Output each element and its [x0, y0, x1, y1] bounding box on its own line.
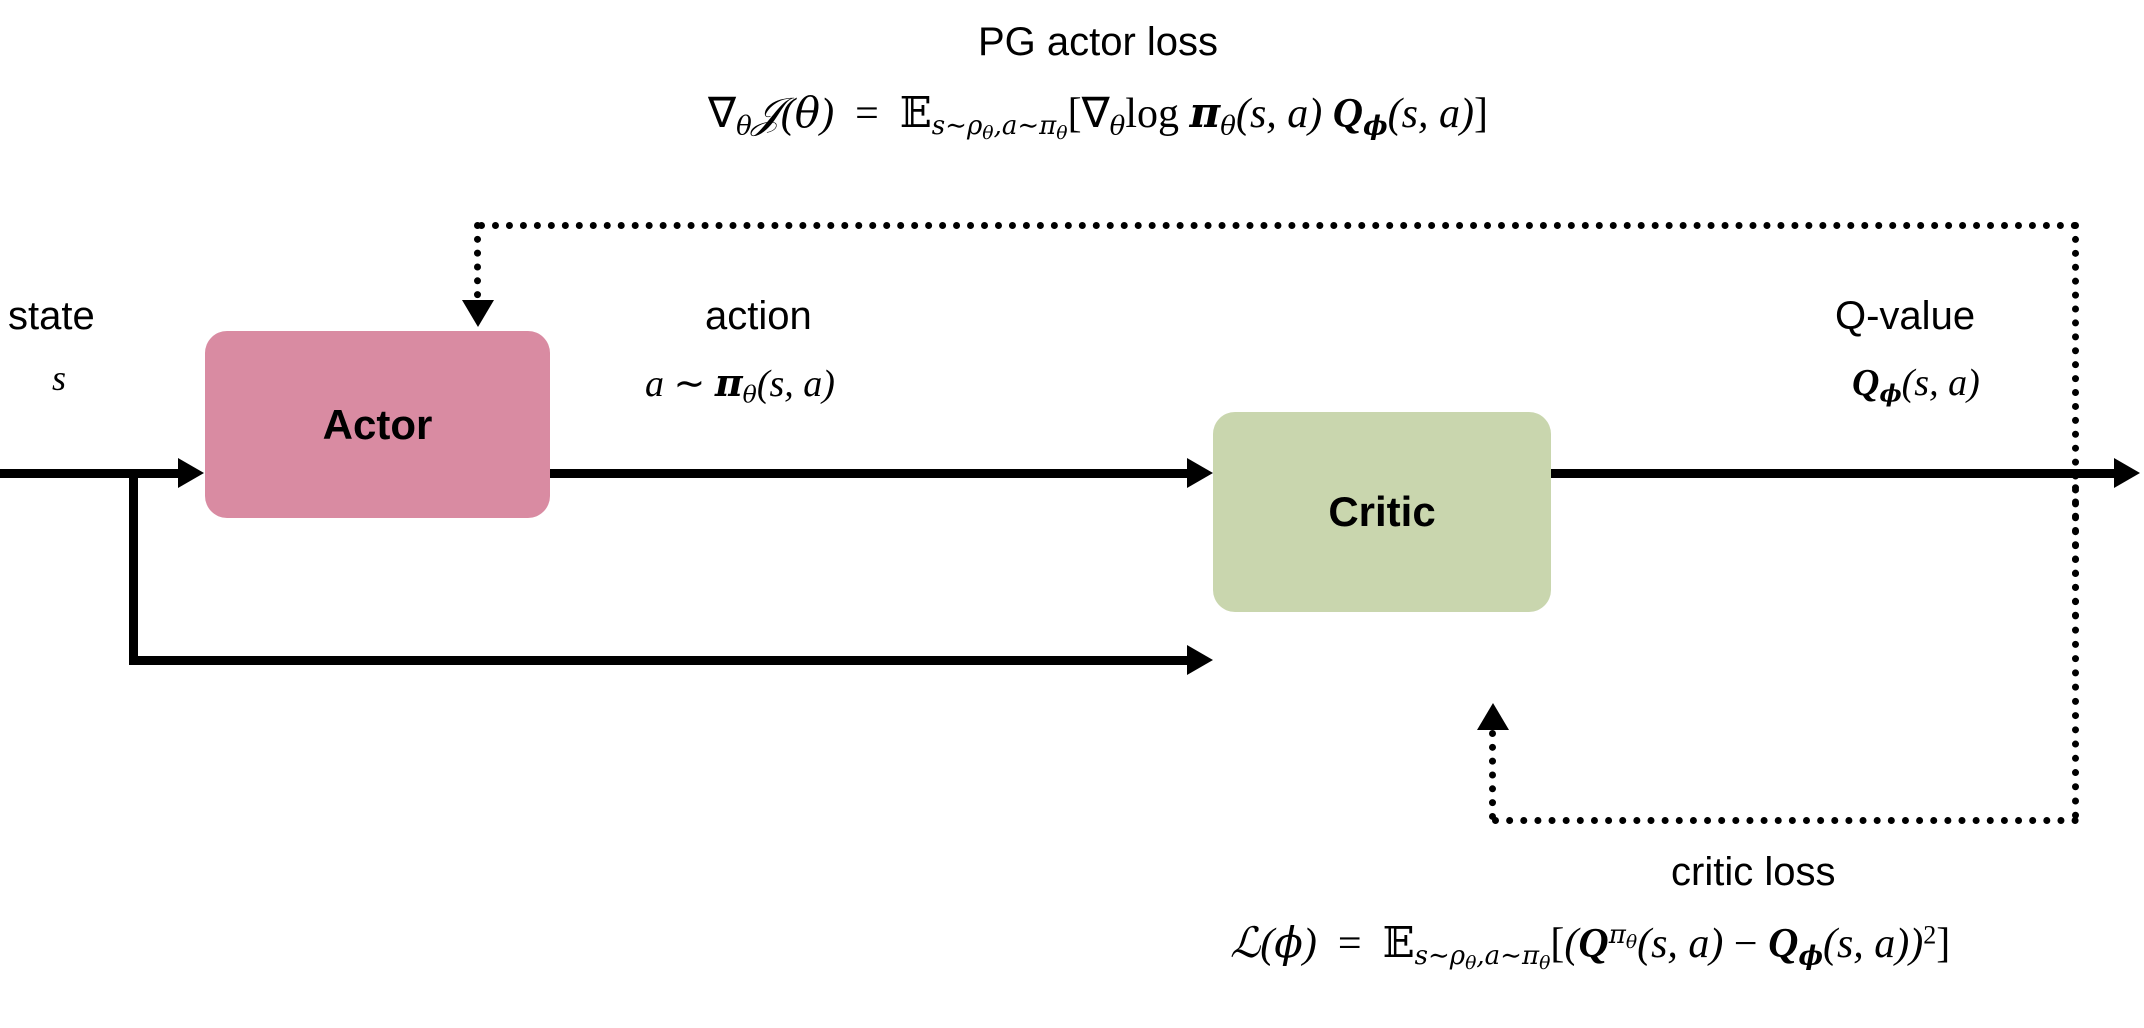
qvalue-symbol: Qϕ(s, a): [1852, 364, 1980, 406]
actor-loss-dotted-vertical-left: [474, 222, 481, 312]
qvalue-arrowhead: [2114, 458, 2140, 488]
state-branch-arrowhead: [1187, 645, 1213, 675]
state-arrowhead: [178, 458, 204, 488]
critic-loss-dotted-vertical-right: [2072, 470, 2079, 819]
pg-actor-loss-label: PG actor loss: [978, 22, 1218, 62]
qvalue-label: Q-value: [1835, 296, 1975, 336]
critic-loss-formula: ℒ(ϕ) = 𝔼s∼ρθ,a∼πθ[(Qπθ(s, a) − Qϕ(s, a))…: [1230, 922, 1950, 974]
state-symbol: s: [52, 360, 66, 396]
critic-loss-arrowhead: [1477, 703, 1509, 730]
state-branch-vertical: [129, 469, 138, 665]
critic-loss-dotted-vertical-left: [1489, 730, 1496, 820]
actor-node[interactable]: Actor: [205, 331, 550, 518]
action-label: action: [705, 296, 812, 336]
state-branch-horizontal: [129, 656, 1191, 665]
state-label: state: [8, 296, 95, 336]
critic-loss-label: critic loss: [1671, 852, 1835, 892]
critic-node[interactable]: Critic: [1213, 412, 1551, 612]
action-symbol: a ∼ πθ(s, a): [645, 364, 835, 407]
action-arrow-line: [550, 469, 1191, 478]
actor-loss-arrowhead: [462, 300, 494, 327]
actor-node-label: Actor: [323, 401, 433, 449]
critic-node-label: Critic: [1328, 488, 1435, 536]
diagram-canvas: PG actor loss ∇θ𝒥(θ) = 𝔼s∼ρθ,a∼πθ[∇θlog …: [0, 0, 2144, 1028]
state-arrow-line: [0, 469, 182, 478]
critic-loss-dotted-horizontal: [1492, 817, 2079, 824]
pg-actor-loss-formula: ∇θ𝒥(θ) = 𝔼s∼ρθ,a∼πθ[∇θlog πθ(s, a) Qϕ(s,…: [708, 92, 1488, 144]
qvalue-arrow-line: [1551, 469, 2118, 478]
actor-loss-dotted-horizontal: [478, 222, 2079, 229]
action-arrowhead: [1187, 458, 1213, 488]
